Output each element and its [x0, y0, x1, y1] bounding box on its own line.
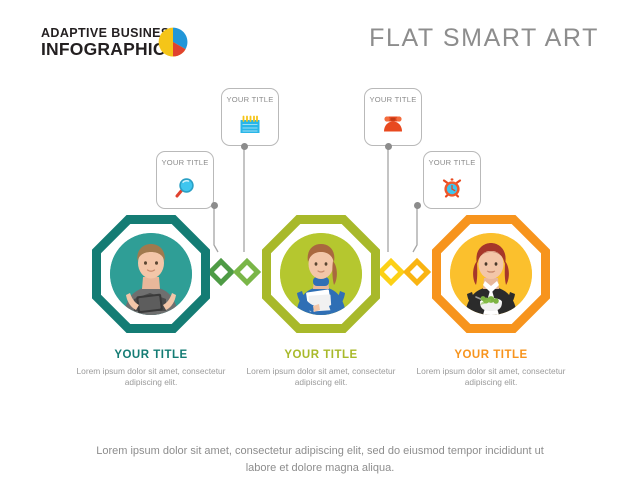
- avatar-businesswoman-with-salad: [450, 233, 532, 315]
- node-caption-3: YOUR TITLE Lorem ipsum dolor sit amet, c…: [416, 348, 566, 388]
- node-octagon-1[interactable]: [92, 215, 210, 333]
- calendar-icon: [222, 111, 278, 139]
- node-body: Lorem ipsum dolor sit amet, consectetur …: [246, 366, 396, 388]
- avatar-woman-with-documents: [280, 233, 362, 315]
- callout-card-alarm-clock[interactable]: YOUR TITLE: [423, 151, 481, 209]
- alarm-clock-icon: [424, 174, 480, 202]
- node-octagon-3[interactable]: [432, 215, 550, 333]
- footer-paragraph: Lorem ipsum dolor sit amet, consectetur …: [95, 443, 545, 477]
- connector-dot: [414, 202, 421, 209]
- connector-dot: [211, 202, 218, 209]
- callout-card-title: YOUR TITLE: [157, 158, 213, 167]
- magnifier-icon: [157, 174, 213, 202]
- callout-card-title: YOUR TITLE: [424, 158, 480, 167]
- telephone-icon: [365, 111, 421, 139]
- node-body: Lorem ipsum dolor sit amet, consectetur …: [76, 366, 226, 388]
- callout-card-title: YOUR TITLE: [222, 95, 278, 104]
- infographic-slide: ADAPTIVE BUSINESS INFOGRAPHICS FLAT SMAR…: [0, 0, 641, 500]
- node-caption-1: YOUR TITLE Lorem ipsum dolor sit amet, c…: [76, 348, 226, 388]
- node-body: Lorem ipsum dolor sit amet, consectetur …: [416, 366, 566, 388]
- callout-card-magnifier[interactable]: YOUR TITLE: [156, 151, 214, 209]
- node-title: YOUR TITLE: [246, 348, 396, 363]
- node-caption-2: YOUR TITLE Lorem ipsum dolor sit amet, c…: [246, 348, 396, 388]
- callout-card-calendar[interactable]: YOUR TITLE: [221, 88, 279, 146]
- callout-card-telephone[interactable]: YOUR TITLE: [364, 88, 422, 146]
- connector-dot: [241, 143, 248, 150]
- connector-dot: [385, 143, 392, 150]
- node-title: YOUR TITLE: [76, 348, 226, 363]
- node-octagon-2[interactable]: [262, 215, 380, 333]
- callout-card-title: YOUR TITLE: [365, 95, 421, 104]
- avatar-woman-with-tablet: [110, 233, 192, 315]
- node-title: YOUR TITLE: [416, 348, 566, 363]
